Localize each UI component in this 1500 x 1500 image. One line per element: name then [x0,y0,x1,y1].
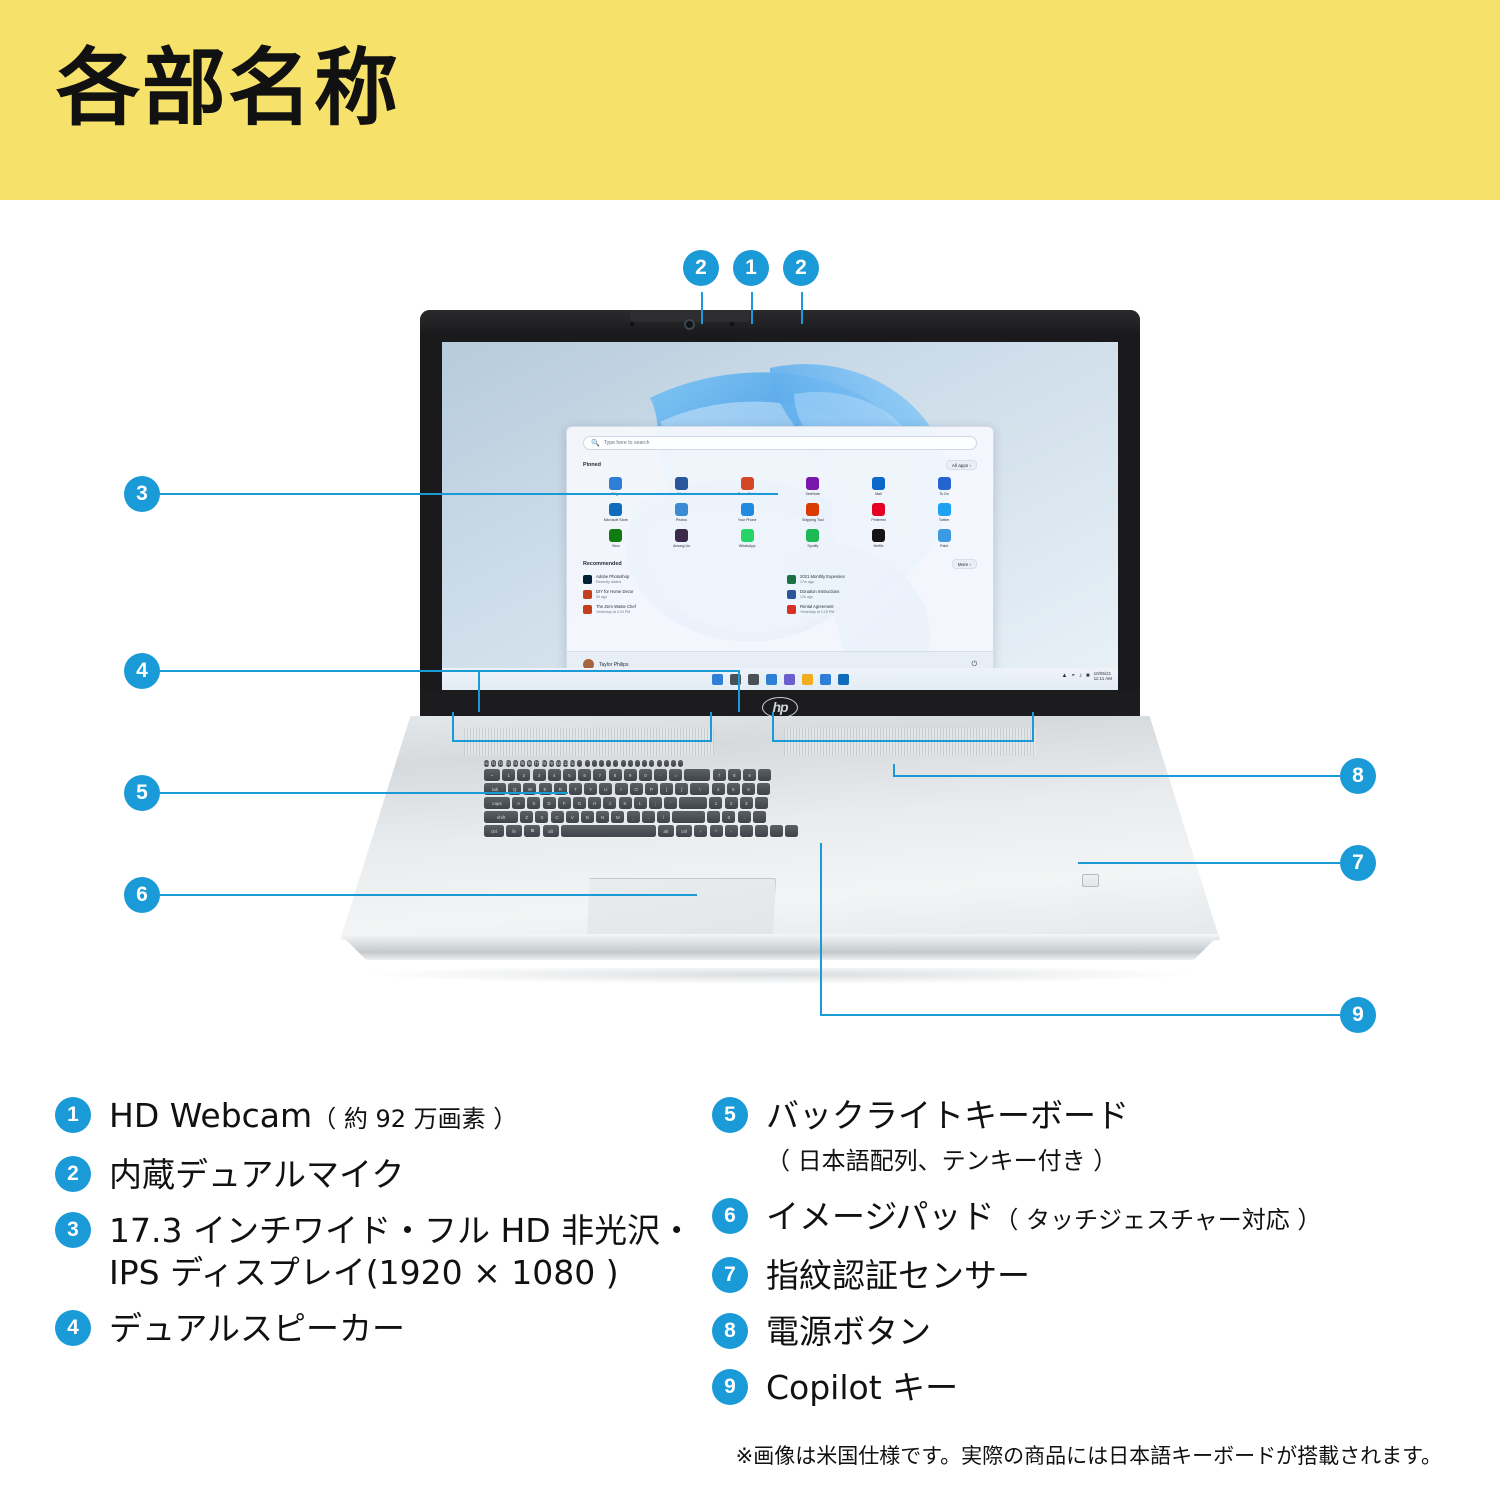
keyboard-key[interactable]: Y [584,783,597,795]
legend-number-6[interactable]: 6 [712,1198,748,1234]
legend-label-3: 17.3 インチワイド・フル HD 非光沢・IPS ディスプレイ(1920 × … [109,1210,693,1294]
user-name: Taylor Philips [599,662,628,668]
keyboard-key[interactable] [606,760,611,767]
keyboard-key[interactable]: 8 [609,769,622,781]
pinned-app-label: Xbox [612,544,620,548]
pinned-app-item[interactable]: Among Us [649,529,715,548]
pinned-app-label: OneNote [806,492,820,496]
recommended-meta: 17m ago [800,580,845,585]
pinned-app-label: Paint [940,544,948,548]
taskbar-icon-group[interactable] [712,674,849,685]
keyboard-key[interactable]: M [611,811,624,823]
start-search-placeholder: Type here to search [604,440,650,446]
recommended-meta: 2h ago [596,595,634,600]
pinned-app-label: Pinterest [871,518,885,522]
keyboard-key[interactable]: 3 [740,797,753,809]
callout-5[interactable]: 5 [124,775,160,811]
legend-main-text: HD Webcam [109,1096,312,1135]
app-icon [872,529,885,542]
keyboard-key[interactable] [561,825,656,837]
app-icon [675,503,688,516]
legend: 1HD Webcam（ 約 92 万画素 ）2内蔵デュアルマイク317.3 イン… [0,1095,1500,1415]
keyboard-key[interactable]: f10 [556,760,561,767]
legend-label-5: バックライトキーボード（ 日本語配列、テンキー付き ） [766,1095,1472,1182]
callout-3[interactable]: 3 [124,476,160,512]
legend-main-text: デュアルスピーカー [109,1309,405,1348]
page-title: 各部名称 [56,40,400,136]
wifi-icon[interactable]: ◓ [1071,674,1075,679]
keyboard-key[interactable]: K [619,797,632,809]
page-header-banner: 各部名称 [0,0,1500,200]
keyboard-key[interactable]: F [558,797,571,809]
keyboard-key[interactable]: 2 [725,797,738,809]
keyboard-key[interactable]: / [657,811,670,823]
pinned-app-label: Spotify [807,544,818,548]
legend-number-9[interactable]: 9 [712,1369,748,1405]
keyboard-key[interactable]: 1 [502,769,515,781]
microphone-right-icon [730,322,734,326]
app-icon [741,477,754,490]
app-icon [872,477,885,490]
start-search-box[interactable]: 🔍 Type here to search [583,436,977,450]
legend-paren-text: （ タッチジェスチャー対応 ） [994,1206,1321,1234]
keyboard-key[interactable] [755,797,768,809]
keyboard-key[interactable]: f4 [513,760,518,767]
pinned-app-item[interactable]: Photos [649,503,715,522]
keyboard-key[interactable]: caps [484,797,510,809]
recommended-item[interactable]: DIY for Home Decor2h ago [583,590,773,599]
legend-number-4[interactable]: 4 [55,1310,91,1346]
keyboard-key[interactable]: P [645,783,658,795]
keyboard-key[interactable]: alt [658,825,674,837]
keyboard-key[interactable]: 6 [578,769,591,781]
keyboard-key[interactable]: \ [690,783,709,795]
keyboard-key[interactable]: f11 [563,760,568,767]
keyboard-row: capsASDFGHJKL;'123 [484,797,768,809]
keyboard-key[interactable] [628,760,633,767]
keyboard-key[interactable]: ctrl [484,825,504,837]
keyboard-key[interactable]: 9 [743,769,756,781]
file-icon [583,590,592,599]
keyboard-key[interactable]: ' [664,797,677,809]
legend-column-right: 5バックライトキーボード（ 日本語配列、テンキー付き ）6イメージパッド（ タッ… [712,1095,1472,1423]
keyboard-key[interactable]: H [588,797,601,809]
legend-main-text: Copilot キー [766,1368,958,1407]
keyboard-key[interactable] [577,760,582,767]
keyboard-key[interactable]: . [642,811,655,823]
all-apps-button[interactable]: All apps › [946,460,977,470]
app-icon [872,503,885,516]
keyboard-key[interactable]: fn [506,825,522,837]
app-icon [675,477,688,490]
callout-2-right[interactable]: 2 [783,250,819,286]
keyboard-key[interactable]: esc [484,760,489,767]
keyboard-key[interactable] [740,825,753,837]
keyboard-key[interactable]: 7 [713,769,726,781]
keyboard-key[interactable]: 3 [533,769,546,781]
keyboard-key[interactable] [664,760,669,767]
pinned-app-item[interactable]: WhatsApp [714,529,780,548]
taskbar-edge-icon[interactable] [820,674,831,685]
keyboard-key[interactable] [707,811,720,823]
keyboard-key[interactable]: 6 [742,783,755,795]
keyboard-key[interactable]: 1 [709,797,722,809]
system-tray[interactable]: ▲ ◓ ♪ ■ 10/05/21 11:11 AM [1061,671,1112,681]
keyboard-key[interactable]: 4 [548,769,561,781]
recommended-item[interactable]: 2021 Monthly Expenses17m ago [787,575,977,584]
keyboard-key[interactable]: ] [675,783,688,795]
pinned-app-label: To Do [939,492,948,496]
keyboard-key[interactable]: T [569,783,582,795]
fingerprint-sensor-icon[interactable] [1082,874,1099,887]
file-icon [583,605,592,614]
legend-second-line: IPS ディスプレイ(1920 × 1080 ) [109,1252,693,1294]
legend-item-4: 4デュアルスピーカー [55,1308,715,1350]
callout-8[interactable]: 8 [1340,758,1376,794]
app-icon [806,503,819,516]
recommended-meta: Yesterday at 4:24 PM [596,610,636,615]
pinned-apps-grid[interactable]: EdgeWordPowerPointOneNoteMailTo DoMicros… [583,477,977,548]
keyboard-row: shiftZXCVBNM,./0. [484,811,766,823]
callout-2-left[interactable]: 2 [683,250,719,286]
keyboard-key[interactable]: 9 [624,769,637,781]
legend-number-8[interactable]: 8 [712,1313,748,1349]
pinned-app-label: Your Phone [738,518,757,522]
taskbar-chat-icon[interactable] [784,674,795,685]
keyboard-key[interactable]: O [630,783,643,795]
keyboard-key[interactable] [657,760,662,767]
keyboard-key[interactable]: L [634,797,647,809]
legend-item-6: 6イメージパッド（ タッチジェスチャー対応 ） [712,1196,1472,1241]
speaker-bracket-right [772,712,1034,742]
keyboard-key[interactable]: . [738,811,751,823]
pinned-app-label: Netflix [873,544,883,548]
keyboard-key[interactable]: [ [660,783,673,795]
keyboard-key[interactable] [785,825,798,837]
app-icon [609,503,622,516]
recommended-item[interactable]: Rental AgreementYesterday at 1:15 PM [787,605,977,614]
app-icon [609,529,622,542]
pinned-app-label: Twitter [939,518,950,522]
keyboard-key[interactable] [679,797,707,809]
pinned-app-label: Snipping Tool [802,518,824,522]
webcam-lens-icon [684,319,695,330]
keyboard-key[interactable]: S [527,797,540,809]
pinned-label: Pinned [583,462,601,468]
legend-label-2: 内蔵デュアルマイク [109,1154,404,1196]
recommended-item[interactable]: Donation Instructions12h ago [787,590,977,599]
laptop-base: escf1f2f3f4f5f6f7f8f9f10f11f12~123456789… [340,716,1220,978]
keyboard-key[interactable] [599,760,604,767]
leader-line-3 [160,493,778,495]
keyboard-key[interactable]: 0 [722,811,735,823]
legend-item-8: 8電源ボタン [712,1311,1472,1353]
file-icon [787,590,796,599]
callout-7[interactable]: 7 [1340,845,1376,881]
callout-9[interactable]: 9 [1340,997,1376,1033]
recommended-meta: Recently added [596,580,629,585]
keyboard-key[interactable] [635,760,640,767]
keyboard-key[interactable]: 5 [727,783,740,795]
pinned-app-item[interactable]: Paint [911,529,977,548]
keyboard-key[interactable] [672,811,705,823]
keyboard-key[interactable]: f12 [570,760,575,767]
microphone-left-icon [630,322,634,326]
app-icon [938,529,951,542]
leader-line-6 [160,894,697,896]
legend-label-7: 指紋認証センサー [766,1255,1030,1297]
legend-main-text: イメージパッド [766,1197,994,1236]
legend-label-8: 電源ボタン [766,1311,931,1353]
keyboard-row: ~1234567890-=789 [484,769,771,781]
keyboard-key[interactable] [753,811,766,823]
keyboard-key[interactable]: X [535,811,548,823]
legend-number-2[interactable]: 2 [55,1156,91,1192]
legend-number-7[interactable]: 7 [712,1257,748,1293]
legend-item-3: 317.3 インチワイド・フル HD 非光沢・IPS ディスプレイ(1920 ×… [55,1210,715,1294]
keyboard-row: ctrlfn⊞altaltctrl‹^› [484,825,798,837]
taskbar-task-view-icon[interactable] [748,674,759,685]
tray-time: 11:11 AM [1094,676,1112,681]
keyboard-key[interactable]: f3 [506,760,511,767]
leader-line-2-right [801,292,803,324]
keyboard-key[interactable]: ctrl [676,825,692,837]
leader-line-2-left [701,292,703,324]
pinned-header: Pinned All apps › [583,460,977,470]
keyboard-key[interactable]: ‹ [694,825,707,837]
keyboard-key[interactable]: ~ [484,769,500,781]
keyboard-key[interactable]: V [566,811,579,823]
more-button[interactable]: More › [952,559,977,569]
pinned-app-label: WhatsApp [739,544,756,548]
legend-column-left: 1HD Webcam（ 約 92 万画素 ）2内蔵デュアルマイク317.3 イン… [55,1095,715,1364]
keyboard-key[interactable]: I [615,783,628,795]
keyboard-key[interactable]: U [599,783,612,795]
pinned-app-item[interactable]: Microsoft Store [583,503,649,522]
pinned-app-item[interactable]: Your Phone [714,503,780,522]
legend-main-text: 電源ボタン [766,1312,931,1351]
app-icon [741,529,754,542]
keyboard-key[interactable]: ; [649,797,662,809]
leader-line-8 [893,775,1340,777]
legend-item-9: 9Copilot キー [712,1367,1472,1409]
keyboard-key[interactable]: 8 [728,769,741,781]
start-menu[interactable]: 🔍 Type here to search Pinned All apps › … [566,426,994,678]
keyboard-key[interactable]: ^ [710,825,723,837]
app-icon [806,477,819,490]
app-icon [675,529,688,542]
laptop-shadow [370,968,1190,984]
keyboard-key[interactable] [755,825,768,837]
pinned-app-item[interactable]: Mail [846,477,912,496]
keyboard-row: escf1f2f3f4f5f6f7f8f9f10f11f12 [484,760,683,767]
leader-line-7 [1078,862,1340,864]
legend-label-1: HD Webcam（ 約 92 万画素 ） [109,1095,517,1140]
laptop-screen: 🔍 Type here to search Pinned All apps › … [442,342,1118,682]
callout-6[interactable]: 6 [124,877,160,913]
callout-4[interactable]: 4 [124,653,160,689]
legend-paren-text: （ 約 92 万画素 ） [312,1105,517,1133]
keyboard-key[interactable]: 4 [712,783,725,795]
keyboard-key[interactable]: J [603,797,616,809]
recommended-meta: Yesterday at 1:15 PM [800,610,834,615]
keyboard-key[interactable]: f5 [520,760,525,767]
keyboard-key[interactable] [649,760,654,767]
keyboard-key[interactable]: G [573,797,586,809]
keyboard-key[interactable]: ⊞ [524,825,540,837]
keyboard-key[interactable] [585,760,590,767]
keyboard-key[interactable]: C [551,811,564,823]
app-icon [938,503,951,516]
keyboard-key[interactable]: D [543,797,556,809]
pinned-app-item[interactable]: Spotify [780,529,846,548]
keyboard-key[interactable]: f7 [534,760,539,767]
legend-main-text: 指紋認証センサー [766,1256,1030,1295]
keyboard-key[interactable] [758,769,771,781]
keyboard-key[interactable]: Z [520,811,533,823]
keyboard-key[interactable]: › [725,825,738,837]
tray-chevron-icon[interactable]: ▲ [1061,674,1067,679]
pinned-app-item[interactable]: Pinterest [846,503,912,522]
recommended-label: Recommended [583,561,622,567]
legend-main-text: 17.3 インチワイド・フル HD 非光沢・ [109,1211,693,1250]
taskbar-widgets-icon[interactable] [766,674,777,685]
keyboard-key[interactable] [642,760,647,767]
legend-item-7: 7指紋認証センサー [712,1255,1472,1297]
keyboard-key[interactable]: - [654,769,667,781]
pinned-app-label: Microsoft Store [604,518,628,522]
taskbar-start-icon[interactable] [712,674,723,685]
pinned-app-item[interactable]: OneNote [780,477,846,496]
keyboard-key[interactable] [621,760,626,767]
pinned-app-item[interactable]: Xbox [583,529,649,548]
keyboard-key[interactable]: alt [543,825,559,837]
leader-line-9-vertical [820,843,822,1015]
file-icon [787,575,796,584]
file-icon [787,605,796,614]
laptop-front-edge [340,934,1220,960]
leader-line-5 [160,792,568,794]
leader-line-9-horizontal [820,1014,1340,1016]
keyboard-key[interactable]: 2 [517,769,530,781]
recommended-item[interactable]: Adobe PhotoshopRecently added [583,575,773,584]
legend-item-5: 5バックライトキーボード（ 日本語配列、テンキー付き ） [712,1095,1472,1182]
leader-line-4-drop-right [738,670,740,712]
keyboard-key[interactable]: 7 [593,769,606,781]
legend-item-2: 2内蔵デュアルマイク [55,1154,715,1196]
pinned-app-item[interactable]: Netflix [846,529,912,548]
keyboard-key[interactable] [770,825,783,837]
legend-main-text: 内蔵デュアルマイク [109,1155,404,1194]
keyboard-key[interactable]: f1 [491,760,496,767]
app-icon [806,529,819,542]
keyboard-key[interactable] [684,769,710,781]
recommended-list[interactable]: Adobe PhotoshopRecently added2021 Monthl… [583,575,977,615]
volume-icon[interactable]: ♪ [1079,674,1082,679]
keyboard-key[interactable]: B [581,811,594,823]
legend-item-1: 1HD Webcam（ 約 92 万画素 ） [55,1095,715,1140]
legend-main-text: バックライトキーボード [766,1096,1129,1135]
recommended-item[interactable]: The Zero Waste ChefYesterday at 4:24 PM [583,605,773,614]
keyboard-key[interactable]: f6 [527,760,532,767]
keyboard-key[interactable]: f8 [542,760,547,767]
keyboard-key[interactable]: 0 [639,769,652,781]
recommended-header: Recommended More › [583,559,977,569]
legend-paren-text: （ 日本語配列、テンキー付き ） [766,1147,1117,1175]
leader-line-4-drop-left [478,670,480,712]
legend-number-1[interactable]: 1 [55,1097,91,1133]
keyboard-key[interactable]: f9 [549,760,554,767]
pinned-app-label: Mail [875,492,882,496]
taskbar-file-explorer-icon[interactable] [802,674,813,685]
keyboard-key[interactable]: f2 [498,760,503,767]
keyboard-key[interactable]: shift [484,811,518,823]
pinned-app-item[interactable]: To Do [911,477,977,496]
pinned-app-item[interactable]: Snipping Tool [780,503,846,522]
keyboard-key[interactable] [757,783,770,795]
search-icon: 🔍 [591,439,600,447]
app-icon [609,477,622,490]
keyboard-key[interactable]: = [669,769,682,781]
keyboard-key[interactable] [592,760,597,767]
legend-label-6: イメージパッド（ タッチジェスチャー対応 ） [766,1196,1321,1241]
recommended-meta: 12h ago [800,595,839,600]
keyboard-key[interactable]: N [596,811,609,823]
speaker-bracket-left [452,712,712,742]
keyboard-key[interactable]: , [627,811,640,823]
pinned-app-label: Photos [676,518,687,522]
pinned-app-label: Among Us [673,544,690,548]
taskbar-store-icon[interactable] [838,674,849,685]
legend-number-3[interactable]: 3 [55,1212,91,1248]
app-icon [741,503,754,516]
footnote: ※画像は米国仕様です。実際の商品には日本語キーボードが搭載されます。 [736,1440,1442,1470]
legend-label-4: デュアルスピーカー [109,1308,405,1350]
keyboard-key[interactable]: A [512,797,525,809]
leader-line-8-stub [893,764,895,777]
leader-line-4 [160,670,740,672]
keyboard-key[interactable] [613,760,618,767]
keyboard-key[interactable] [678,760,683,767]
keyboard-key[interactable]: 5 [563,769,576,781]
legend-label-9: Copilot キー [766,1367,958,1409]
app-icon [938,477,951,490]
file-icon [583,575,592,584]
pinned-app-item[interactable]: Twitter [911,503,977,522]
leader-line-1 [751,292,753,324]
legend-number-5[interactable]: 5 [712,1097,748,1133]
callout-1[interactable]: 1 [733,250,769,286]
keyboard-key[interactable] [671,760,676,767]
battery-icon[interactable]: ■ [1086,674,1090,679]
